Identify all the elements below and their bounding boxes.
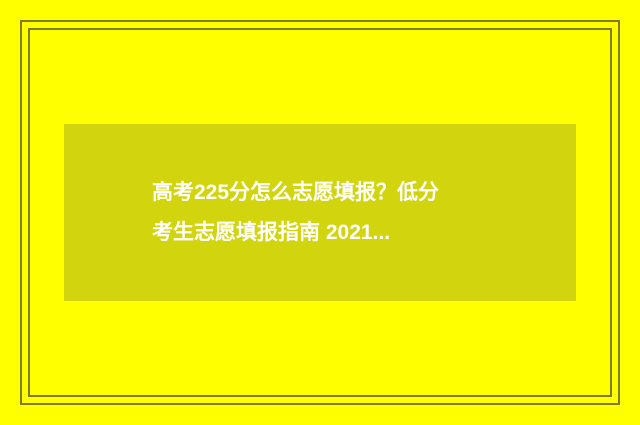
card-title-line-2: 考生志愿填报指南 2021... xyxy=(152,213,552,253)
placeholder-card-canvas: 高考225分怎么志愿填报？低分 考生志愿填报指南 2021... xyxy=(0,0,640,425)
title-block: 高考225分怎么志愿填报？低分 考生志愿填报指南 2021... xyxy=(152,173,552,253)
card-title-line-1: 高考225分怎么志愿填报？低分 xyxy=(152,173,552,213)
content-panel: 高考225分怎么志愿填报？低分 考生志愿填报指南 2021... xyxy=(64,124,576,301)
